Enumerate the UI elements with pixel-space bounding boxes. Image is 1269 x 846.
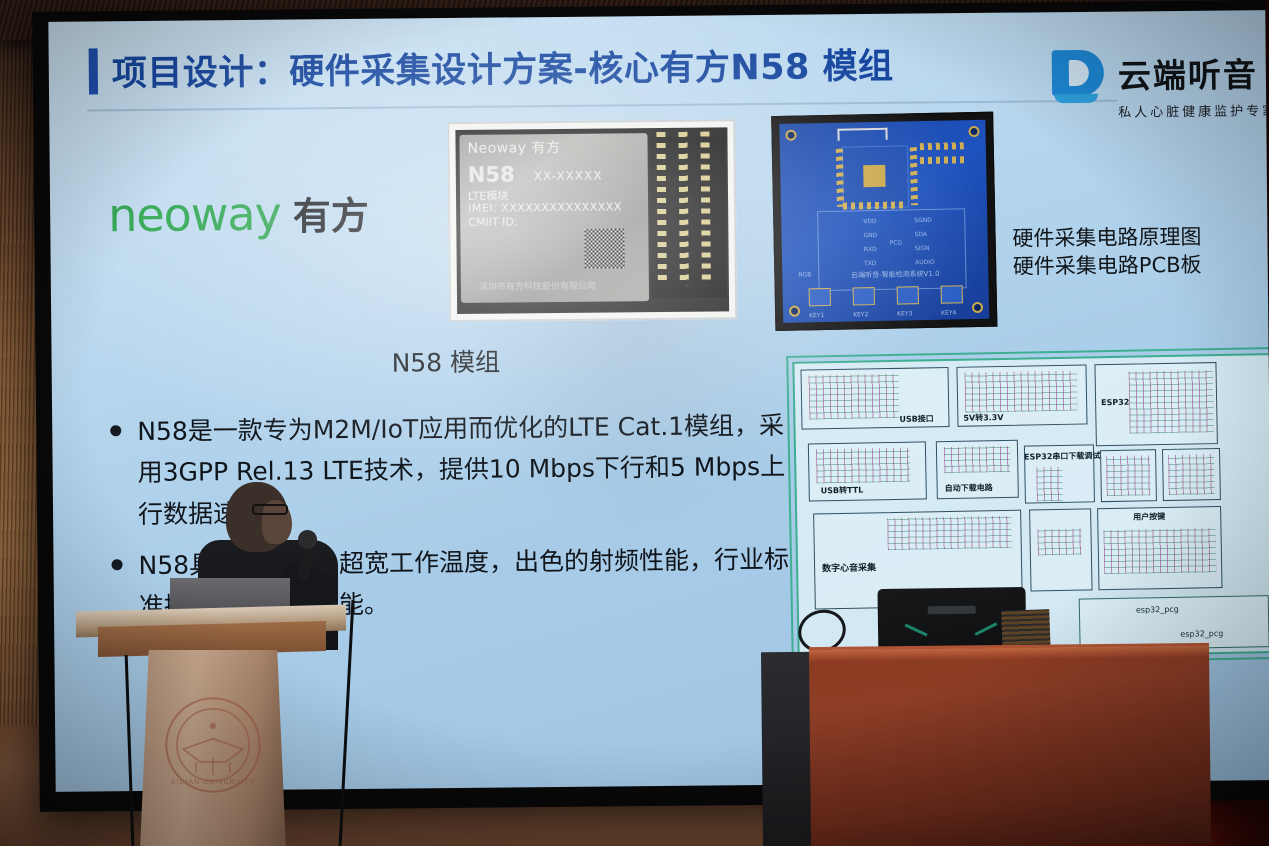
pcb-pin-label-sign: SIGN — [915, 245, 930, 252]
schematic-block-label-usb-port: USB接口 — [899, 413, 934, 425]
pcb-key1-label: KEY1 — [809, 312, 824, 319]
schematic-file-name: esp32_pcg — [1180, 629, 1223, 639]
microphone-icon — [298, 530, 317, 549]
neoway-logo-latin: neoway — [108, 187, 281, 243]
neoway-logo-chinese: 有方 — [293, 185, 370, 241]
schematic-block-label-5v-to-3v3: 5V转3.3V — [963, 412, 1003, 424]
pcb-antenna-trace — [837, 128, 887, 141]
pcb-pin-label-sda: SDA — [914, 231, 927, 238]
university-emblem: XIDIAN UNIVERSITY — [160, 692, 266, 798]
pcb-label: 硬件采集电路PCB板 — [1013, 251, 1202, 281]
pcb-board-photo: VDD GND RXD TXD SGND SDA SIGN AUDIO PCG … — [771, 112, 997, 331]
presenter-desk — [809, 643, 1211, 846]
schematic-block-label-auto-download: 自动下载电路 — [945, 482, 993, 494]
module-qr-code-icon — [584, 228, 624, 268]
pcb-pin-label-vdd: VDD — [863, 218, 876, 225]
schematic-label: 硬件采集电路原理图 — [1012, 223, 1201, 253]
bullet-dot-icon — [110, 425, 121, 436]
brand-logo: 云端听音 私人心脏健康监护专家 — [1052, 48, 1269, 121]
module-model-text: N58 — [468, 162, 515, 186]
schematic-project-name: esp32_pcg — [1136, 605, 1179, 615]
pcb-key3-label: KEY3 — [897, 310, 912, 317]
page-title: 项目设计：硬件采集设计方案-核心有方N58 模组 — [112, 38, 894, 97]
brand-tagline: 私人心脏健康监护专家 — [1118, 100, 1269, 121]
schematic-block-label-user-keys: 用户按键 — [1133, 511, 1165, 523]
cloud-d-logo-icon — [1052, 50, 1109, 111]
slide-title-row: 项目设计：硬件采集设计方案-核心有方N58 模组 — [89, 38, 894, 97]
title-accent-bar — [89, 48, 98, 94]
module-serial-text: XX-XXXXX — [534, 169, 603, 184]
right-image-labels: 硬件采集电路原理图 硬件采集电路PCB板 — [1012, 223, 1202, 281]
title-underline — [87, 100, 1117, 112]
presentation-scene: 项目设计：硬件采集设计方案-核心有方N58 模组 云端听音 私人心脏健康监护专家… — [0, 0, 1269, 846]
schematic-block-label-esp32-uart-debug: ESP32串口下载调试 — [1024, 450, 1100, 462]
pcb-pin-label-rxd: RXD — [864, 246, 877, 253]
pcb-pin-label-audio: AUDIO — [915, 259, 935, 266]
lectern-podium: XIDIAN UNIVERSITY — [76, 560, 346, 846]
brand-name: 云端听音 — [1118, 48, 1269, 98]
pcb-pin-label-gnd: GND — [864, 232, 878, 239]
n58-module-caption: N58 模组 — [391, 343, 500, 380]
neoway-logo: neoway 有方 — [108, 185, 369, 242]
pcb-key2-label: KEY2 — [853, 311, 868, 318]
schematic-block-label-usb-to-ttl: USB转TTL — [821, 485, 864, 497]
glasses-icon — [252, 504, 288, 515]
pcb-main-chip — [842, 145, 909, 208]
module-cmiit-text: CMIIT ID: — [468, 215, 517, 228]
schematic-block-label-esp32: ESP32 — [1101, 398, 1129, 408]
module-company-text: 深圳市有方科技股份有限公司 — [479, 279, 596, 293]
university-emblem-name: XIDIAN UNIVERSITY — [160, 779, 266, 786]
pcb-center-label: PCG — [890, 239, 903, 246]
pcb-key4-label: KEY4 — [941, 309, 956, 316]
pcb-rgb-label: RGB — [798, 271, 811, 278]
n58-module-photo: Neoway 有方 N58 XX-XXXXX LTE模块 IMEI: XXXXX… — [447, 119, 737, 322]
pcb-pin-label-sgnd: SGND — [914, 217, 932, 224]
pcb-pin-label-txd: TXD — [864, 260, 877, 267]
module-imei-text: IMEI: XXXXXXXXXXXXXXX — [468, 200, 622, 214]
module-brand-text: Neoway 有方 — [467, 137, 560, 158]
schematic-block-label-digital-heart-sound: 数字心音采集 — [822, 560, 876, 574]
